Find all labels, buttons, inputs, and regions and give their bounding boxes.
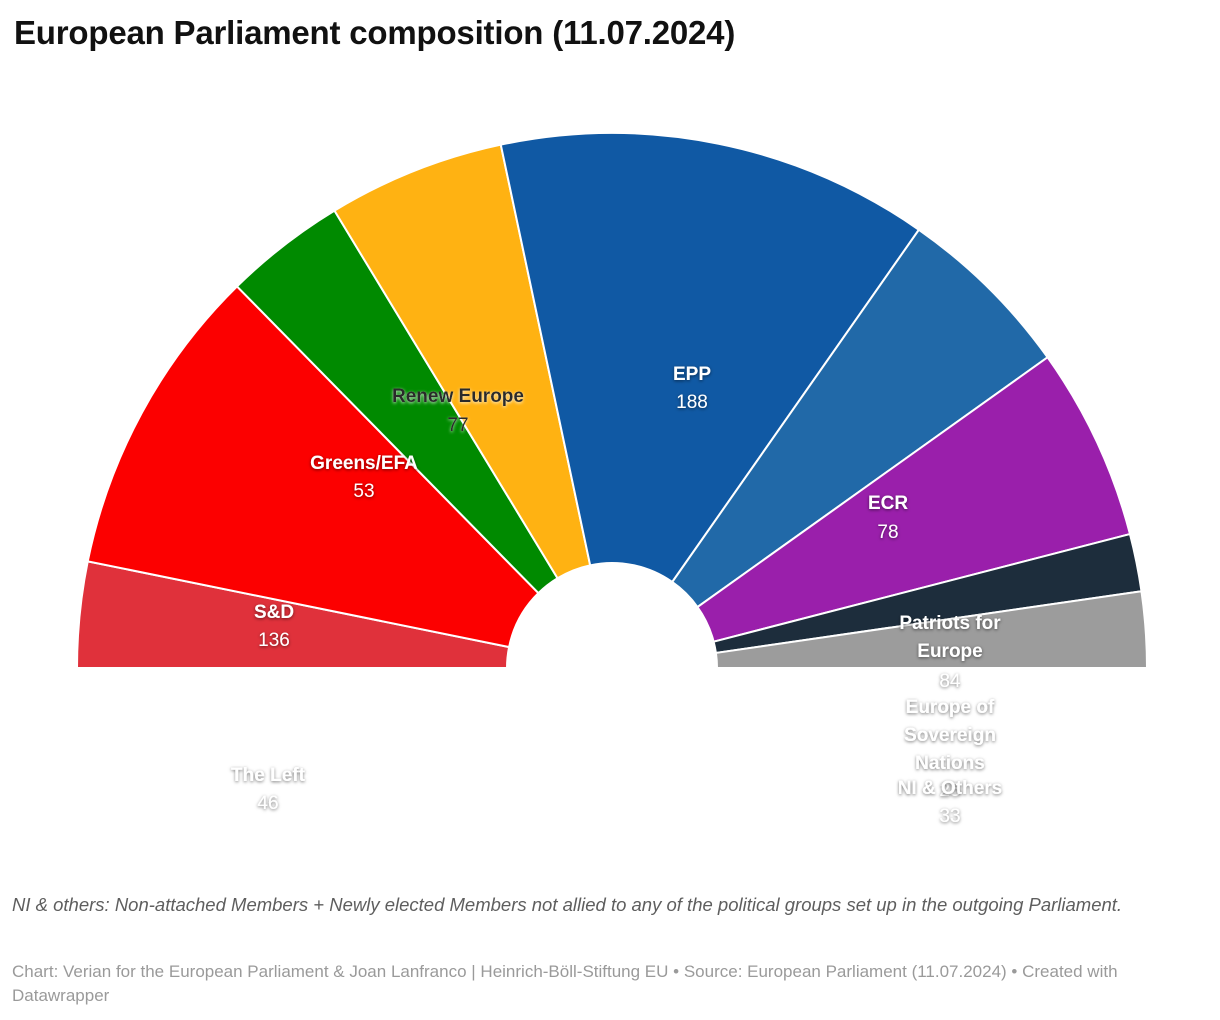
chart-credit: Chart: Verian for the European Parliamen… [12, 960, 1208, 1008]
slice-label: Europe [917, 641, 982, 662]
slice-value: 53 [353, 481, 374, 502]
slice-label: Patriots for [899, 613, 1001, 634]
slice-value: 136 [258, 630, 290, 651]
slice-value: 84 [939, 671, 961, 692]
slice-label: Greens/EFA [310, 453, 418, 474]
slice-label: The Left [231, 765, 306, 786]
slice-label: EPP [673, 364, 711, 385]
slice-label: Renew Europe [392, 386, 524, 407]
slice-label: Europe of [906, 697, 995, 718]
slice-value: 33 [939, 806, 960, 827]
parliament-semicircle-svg: The Left46S&D136Greens/EFA53Renew Europe… [0, 60, 1220, 880]
slice-label: Nations [915, 753, 985, 774]
slice-value: 188 [676, 392, 708, 413]
slice-value: 77 [447, 415, 468, 436]
slice-value: 78 [877, 522, 898, 543]
parliament-chart: The Left46S&D136Greens/EFA53Renew Europe… [0, 60, 1220, 880]
slice-layer [77, 133, 1147, 668]
chart-page: European Parliament composition (11.07.2… [0, 0, 1220, 1020]
page-title: European Parliament composition (11.07.2… [14, 14, 735, 52]
slice-label: NI & Others [898, 778, 1003, 799]
slice-label: ECR [868, 493, 908, 514]
slice-label: Sovereign [904, 725, 996, 746]
chart-note: NI & others: Non-attached Members + Newl… [12, 892, 1208, 918]
slice-label: S&D [254, 602, 294, 623]
slice-value: 46 [257, 793, 278, 814]
